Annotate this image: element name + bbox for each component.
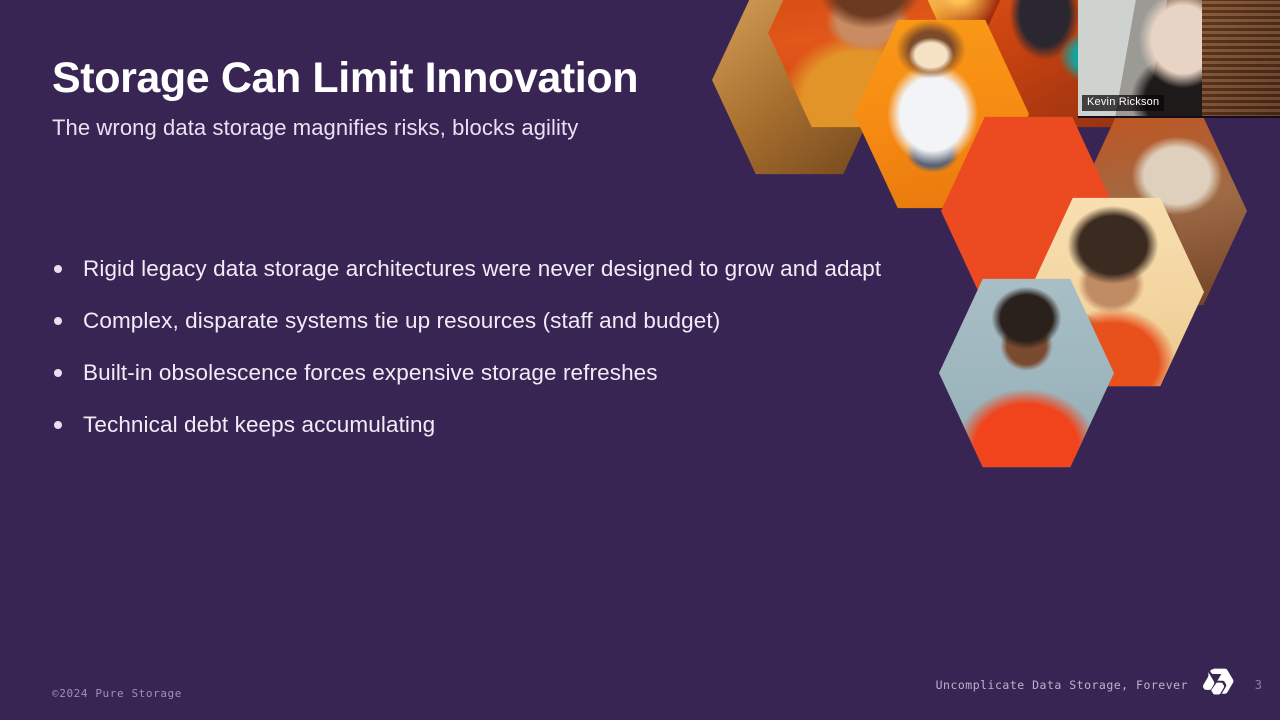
list-item: Built-in obsolescence forces expensive s… [52,356,952,390]
hex-pattern-stripes [808,0,983,34]
copyright-notice: ©2024 Pure Storage [52,687,182,700]
presentation-slide: Kevin Rickson Storage Can Limit Innovati… [0,0,1280,720]
bullet-dot-icon [54,265,62,273]
hex-photo-sofa [1072,113,1247,309]
video-background-shelf [1202,0,1280,118]
list-item-text: Rigid legacy data storage architectures … [83,256,881,281]
hex-photo-lamps [897,0,1072,83]
video-participant-tile[interactable]: Kevin Rickson [1078,0,1280,118]
slide-title: Storage Can Limit Innovation [52,52,752,104]
list-item-text: Built-in obsolescence forces expensive s… [83,360,658,385]
bullet-dot-icon [54,369,62,377]
brand-tagline: Uncomplicate Data Storage, Forever [936,678,1188,692]
hex-photo-cyclist-woman [854,16,1029,212]
bullet-dot-icon [54,317,62,325]
slide-page-number: 3 [1250,678,1262,692]
list-item-text: Complex, disparate systems tie up resour… [83,308,720,333]
hex-solid-orange [941,113,1116,309]
bullet-dot-icon [54,421,62,429]
hex-photo-woman-orange-top [768,0,943,131]
list-item: Rigid legacy data storage architectures … [52,252,952,286]
participant-name-label: Kevin Rickson [1082,95,1164,111]
hex-photo-man-glasses [1029,194,1204,390]
list-item: Technical debt keeps accumulating [52,408,952,442]
slide-subtitle: The wrong data storage magnifies risks, … [52,113,752,143]
list-item: Complex, disparate systems tie up resour… [52,304,952,338]
footer-right-group: Uncomplicate Data Storage, Forever 3 [936,667,1262,702]
list-item-text: Technical debt keeps accumulating [83,412,435,437]
pure-storage-logo-icon [1202,667,1236,702]
hex-photo-man-red-shirt [939,275,1114,471]
bullet-list: Rigid legacy data storage architectures … [52,252,952,442]
